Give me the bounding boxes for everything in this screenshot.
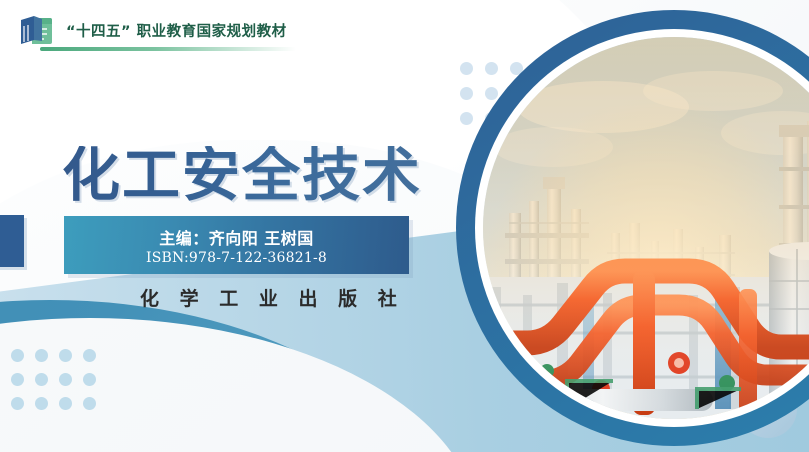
decorative-dot bbox=[485, 87, 498, 100]
dot-grid-bottom-left bbox=[11, 349, 96, 410]
decorative-dot bbox=[485, 62, 498, 75]
decorative-dot bbox=[59, 397, 72, 410]
badge-label: “十四五” 职业教育国家规划教材 bbox=[66, 20, 287, 41]
isbn-label: ISBN:978-7-122-36821-8 bbox=[146, 250, 327, 266]
decorative-dot bbox=[35, 373, 48, 386]
book-document-logo-icon bbox=[16, 10, 58, 50]
national-textbook-badge: “十四五” 职业教育国家规划教材 bbox=[16, 10, 287, 50]
publisher-label: 化 学 工 业 出 版 社 bbox=[140, 284, 404, 311]
decorative-dot bbox=[83, 349, 96, 362]
decorative-dot bbox=[59, 349, 72, 362]
decorative-dot bbox=[35, 397, 48, 410]
decorative-dot bbox=[83, 373, 96, 386]
credits-bar: 主编：齐向阳 王树国 ISBN:978-7-122-36821-8 bbox=[64, 216, 409, 274]
book-cover: “十四五” 职业教育国家规划教材 化工安全技术 主编：齐向阳 王树国 ISBN:… bbox=[0, 0, 809, 452]
page-title: 化工安全技术 bbox=[62, 146, 422, 204]
decorative-dot bbox=[83, 397, 96, 410]
square-accent-shape bbox=[0, 215, 24, 267]
decorative-dot bbox=[460, 87, 473, 100]
decorative-dot bbox=[35, 349, 48, 362]
decorative-dot bbox=[11, 349, 24, 362]
decorative-dot bbox=[59, 373, 72, 386]
decorative-dot bbox=[460, 112, 473, 125]
decorative-dot bbox=[460, 62, 473, 75]
editors-label: 主编：齐向阳 王树国 bbox=[159, 225, 314, 249]
decorative-dot bbox=[11, 373, 24, 386]
badge-underline bbox=[40, 47, 296, 51]
decorative-dot bbox=[11, 397, 24, 410]
